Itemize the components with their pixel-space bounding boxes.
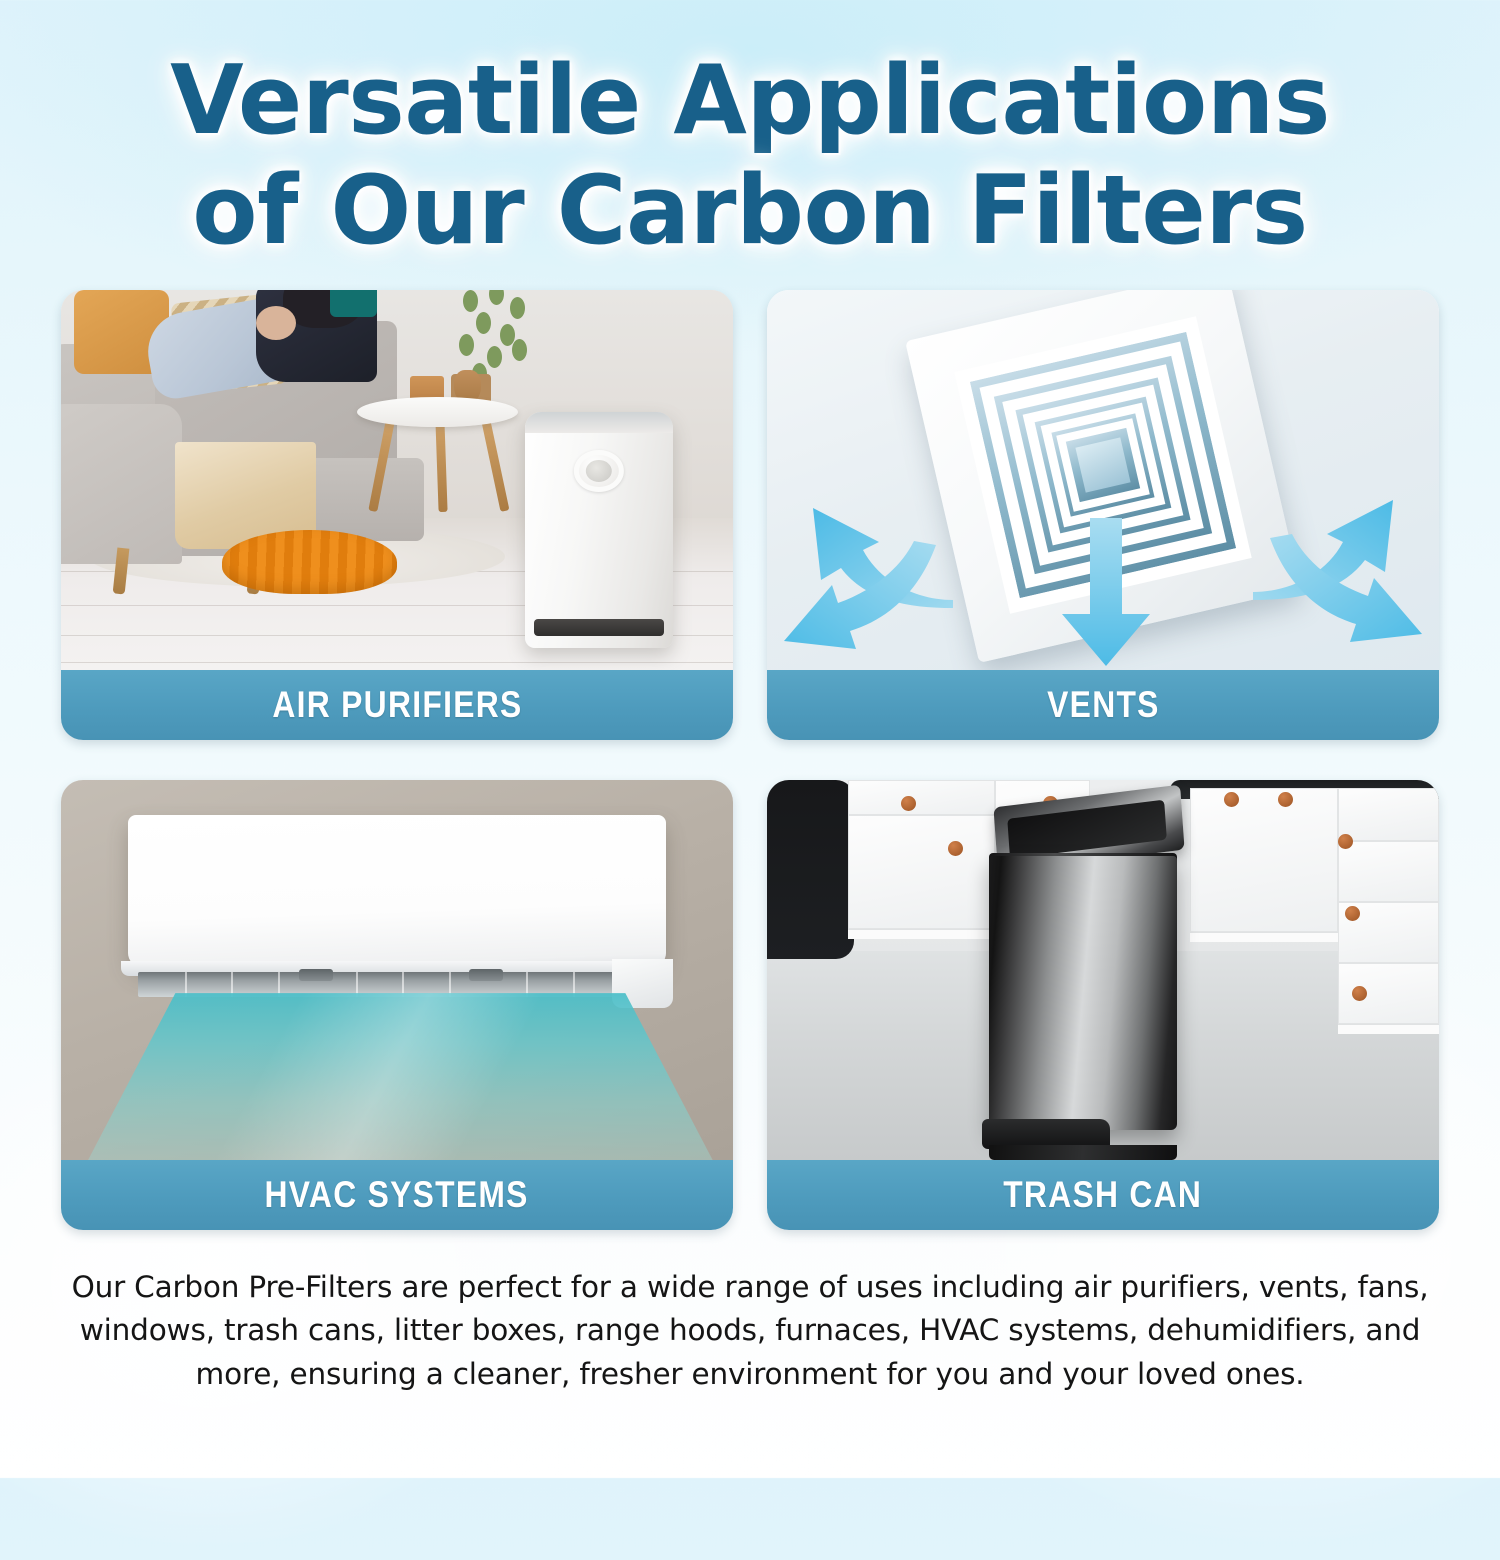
card-caption-label: VENTS (1047, 684, 1160, 726)
page-title-line-1: Versatile Applications (60, 46, 1440, 156)
kitchen-trash-can-photo (767, 780, 1439, 1160)
airflow-arrow-left-down (780, 541, 940, 670)
card-caption-air-purifiers: AIR PURIFIERS (61, 670, 733, 740)
application-card-grid: AIR PURIFIERS (61, 290, 1439, 1230)
card-caption-hvac-systems: HVAC SYSTEMS (61, 1160, 733, 1230)
page-title: Versatile Applications of Our Carbon Fil… (0, 0, 1500, 266)
ac-indoor-unit (128, 815, 666, 967)
trash-can-body (989, 856, 1177, 1130)
footer-description: Our Carbon Pre-Filters are perfect for a… (50, 1266, 1450, 1395)
card-caption-label: TRASH CAN (1003, 1174, 1202, 1216)
application-card-hvac-systems: HVAC SYSTEMS (61, 780, 733, 1230)
application-card-trash-can: TRASH CAN (767, 780, 1439, 1230)
airflow-arrow-center-down (1056, 518, 1156, 668)
card-caption-label: AIR PURIFIERS (272, 684, 522, 726)
footer-line-2: windows, trash cans, litter boxes, range… (50, 1309, 1450, 1352)
ceiling-vent-photo (767, 290, 1439, 670)
footer-line-1: Our Carbon Pre-Filters are perfect for a… (50, 1266, 1450, 1309)
footer-line-3: more, ensuring a cleaner, fresher enviro… (50, 1353, 1450, 1396)
air-purifier-unit (525, 412, 673, 648)
application-card-vents: VENTS (767, 290, 1439, 740)
card-caption-vents: VENTS (767, 670, 1439, 740)
card-caption-label: HVAC SYSTEMS (265, 1174, 529, 1216)
orange-knit-pillow (222, 530, 397, 595)
mini-split-ac-photo (61, 780, 733, 1160)
power-button-icon (573, 450, 623, 492)
airflow-arrow-right-down (1266, 534, 1426, 671)
card-caption-trash-can: TRASH CAN (767, 1160, 1439, 1230)
application-card-air-purifiers: AIR PURIFIERS (61, 290, 733, 740)
air-purifier-room-photo (61, 290, 733, 670)
page-title-line-2: of Our Carbon Filters (60, 156, 1440, 266)
